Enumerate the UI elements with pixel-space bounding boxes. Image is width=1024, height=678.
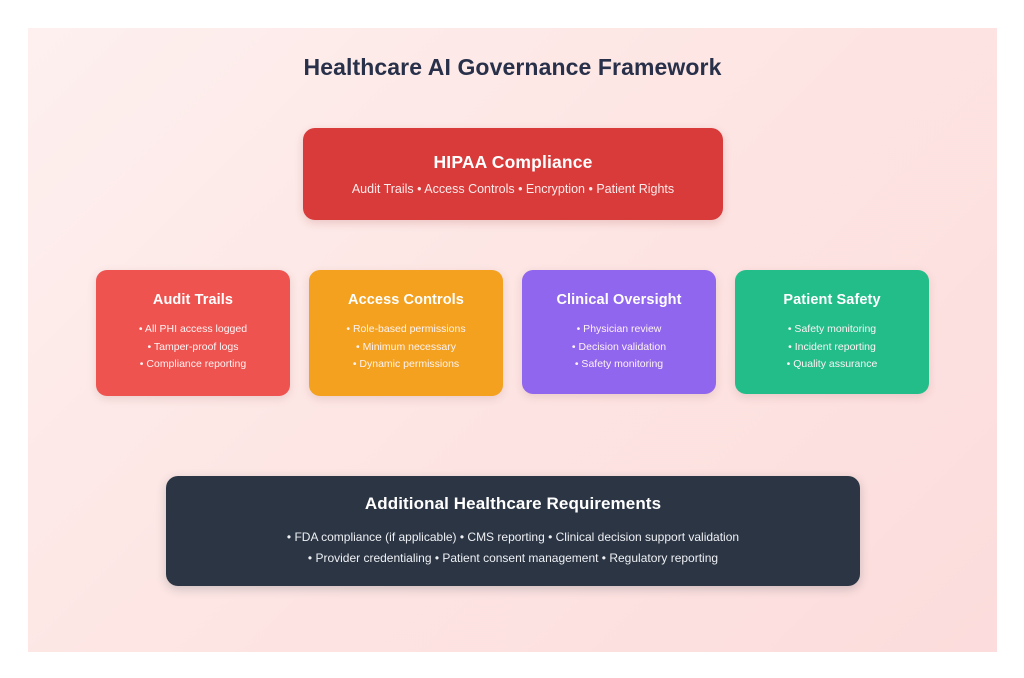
pillar-card-access-controls: Access Controls • Role-based permissions… (309, 270, 503, 396)
hipaa-compliance-title: HIPAA Compliance (434, 152, 593, 173)
pillar-title-audit-trails: Audit Trails (106, 292, 280, 308)
pillar-item: • Decision validation (532, 339, 706, 357)
pillar-card-audit-trails: Audit Trails • All PHI access logged • T… (96, 270, 290, 396)
pillar-card-group: Audit Trails • All PHI access logged • T… (96, 270, 929, 396)
additional-requirements-line: • FDA compliance (if applicable) • CMS r… (287, 527, 739, 548)
page-title: Healthcare AI Governance Framework (28, 28, 997, 81)
additional-requirements-title: Additional Healthcare Requirements (365, 494, 661, 514)
pillar-item: • Tamper-proof logs (106, 339, 280, 357)
pillar-title-clinical-oversight: Clinical Oversight (532, 292, 706, 308)
pillar-item: • Safety monitoring (532, 356, 706, 374)
pillar-item: • Role-based permissions (319, 321, 493, 339)
pillar-item: • Incident reporting (745, 339, 919, 357)
pillar-card-patient-safety: Patient Safety • Safety monitoring • Inc… (735, 270, 929, 394)
pillar-item: • All PHI access logged (106, 321, 280, 339)
pillar-item: • Safety monitoring (745, 321, 919, 339)
pillar-item: • Quality assurance (745, 356, 919, 374)
framework-panel: Healthcare AI Governance Framework HIPAA… (28, 28, 997, 652)
additional-requirements-panel: Additional Healthcare Requirements • FDA… (166, 476, 860, 586)
pillar-item: • Physician review (532, 321, 706, 339)
hipaa-compliance-subtitle: Audit Trails • Access Controls • Encrypt… (352, 182, 674, 196)
hipaa-compliance-card: HIPAA Compliance Audit Trails • Access C… (303, 128, 723, 220)
pillar-item: • Minimum necessary (319, 339, 493, 357)
pillar-title-access-controls: Access Controls (319, 292, 493, 308)
pillar-item: • Compliance reporting (106, 356, 280, 374)
additional-requirements-line: • Provider credentialing • Patient conse… (308, 548, 718, 569)
pillar-card-clinical-oversight: Clinical Oversight • Physician review • … (522, 270, 716, 394)
pillar-item: • Dynamic permissions (319, 356, 493, 374)
pillar-title-patient-safety: Patient Safety (745, 292, 919, 308)
